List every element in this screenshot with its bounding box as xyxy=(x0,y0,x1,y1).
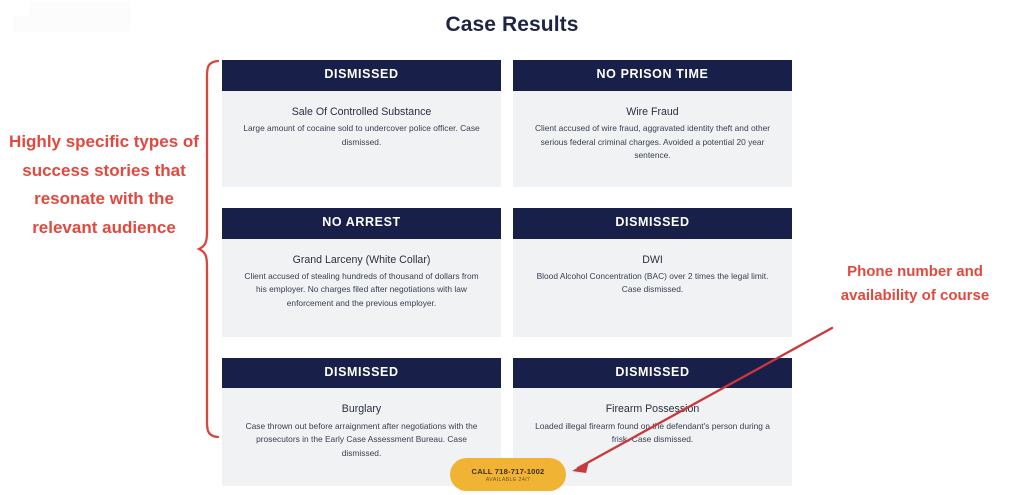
case-badge: NO PRISON TIME xyxy=(513,60,792,91)
case-badge: DISMISSED xyxy=(513,208,792,239)
case-title: DWI xyxy=(529,253,776,268)
call-cta-button[interactable]: CALL 718-717-1002 AVAILABLE 24/7 xyxy=(450,458,566,491)
case-card-body: DWI Blood Alcohol Concentration (BAC) ov… xyxy=(513,239,792,337)
case-description: Blood Alcohol Concentration (BAC) over 2… xyxy=(529,270,776,297)
case-badge: DISMISSED xyxy=(222,358,501,389)
case-title: Firearm Possession xyxy=(529,402,776,417)
case-card-body: Grand Larceny (White Collar) Client accu… xyxy=(222,239,501,337)
case-card[interactable]: NO ARREST Grand Larceny (White Collar) C… xyxy=(222,208,501,337)
case-title: Wire Fraud xyxy=(529,105,776,120)
case-description: Loaded illegal firearm found on the defe… xyxy=(529,420,776,447)
annotation-left-text: Highly specific types of success stories… xyxy=(6,128,202,242)
case-description: Client accused of wire fraud, aggravated… xyxy=(529,122,776,163)
case-title: Sale Of Controlled Substance xyxy=(238,105,485,120)
cta-phone-label: CALL 718-717-1002 xyxy=(472,467,545,476)
case-description: Large amount of cocaine sold to undercov… xyxy=(238,122,485,149)
case-results-grid: DISMISSED Sale Of Controlled Substance L… xyxy=(222,60,792,486)
case-card[interactable]: NO PRISON TIME Wire Fraud Client accused… xyxy=(513,60,792,187)
case-card-body: Sale Of Controlled Substance Large amoun… xyxy=(222,91,501,187)
case-badge: DISMISSED xyxy=(513,358,792,389)
case-badge: DISMISSED xyxy=(222,60,501,91)
case-title: Burglary xyxy=(238,402,485,417)
case-badge: NO ARREST xyxy=(222,208,501,239)
annotation-right-text: Phone number and availability of course xyxy=(812,260,1018,309)
case-card[interactable]: DISMISSED DWI Blood Alcohol Concentratio… xyxy=(513,208,792,337)
case-card-body: Wire Fraud Client accused of wire fraud,… xyxy=(513,91,792,187)
cta-availability-label: AVAILABLE 24/7 xyxy=(486,477,530,483)
case-card[interactable]: DISMISSED Sale Of Controlled Substance L… xyxy=(222,60,501,187)
case-title: Grand Larceny (White Collar) xyxy=(238,253,485,268)
case-description: Case thrown out before arraignment after… xyxy=(238,420,485,461)
curly-brace-icon xyxy=(199,61,218,437)
page-title: Case Results xyxy=(0,13,1024,37)
case-description: Client accused of stealing hundreds of t… xyxy=(238,270,485,311)
